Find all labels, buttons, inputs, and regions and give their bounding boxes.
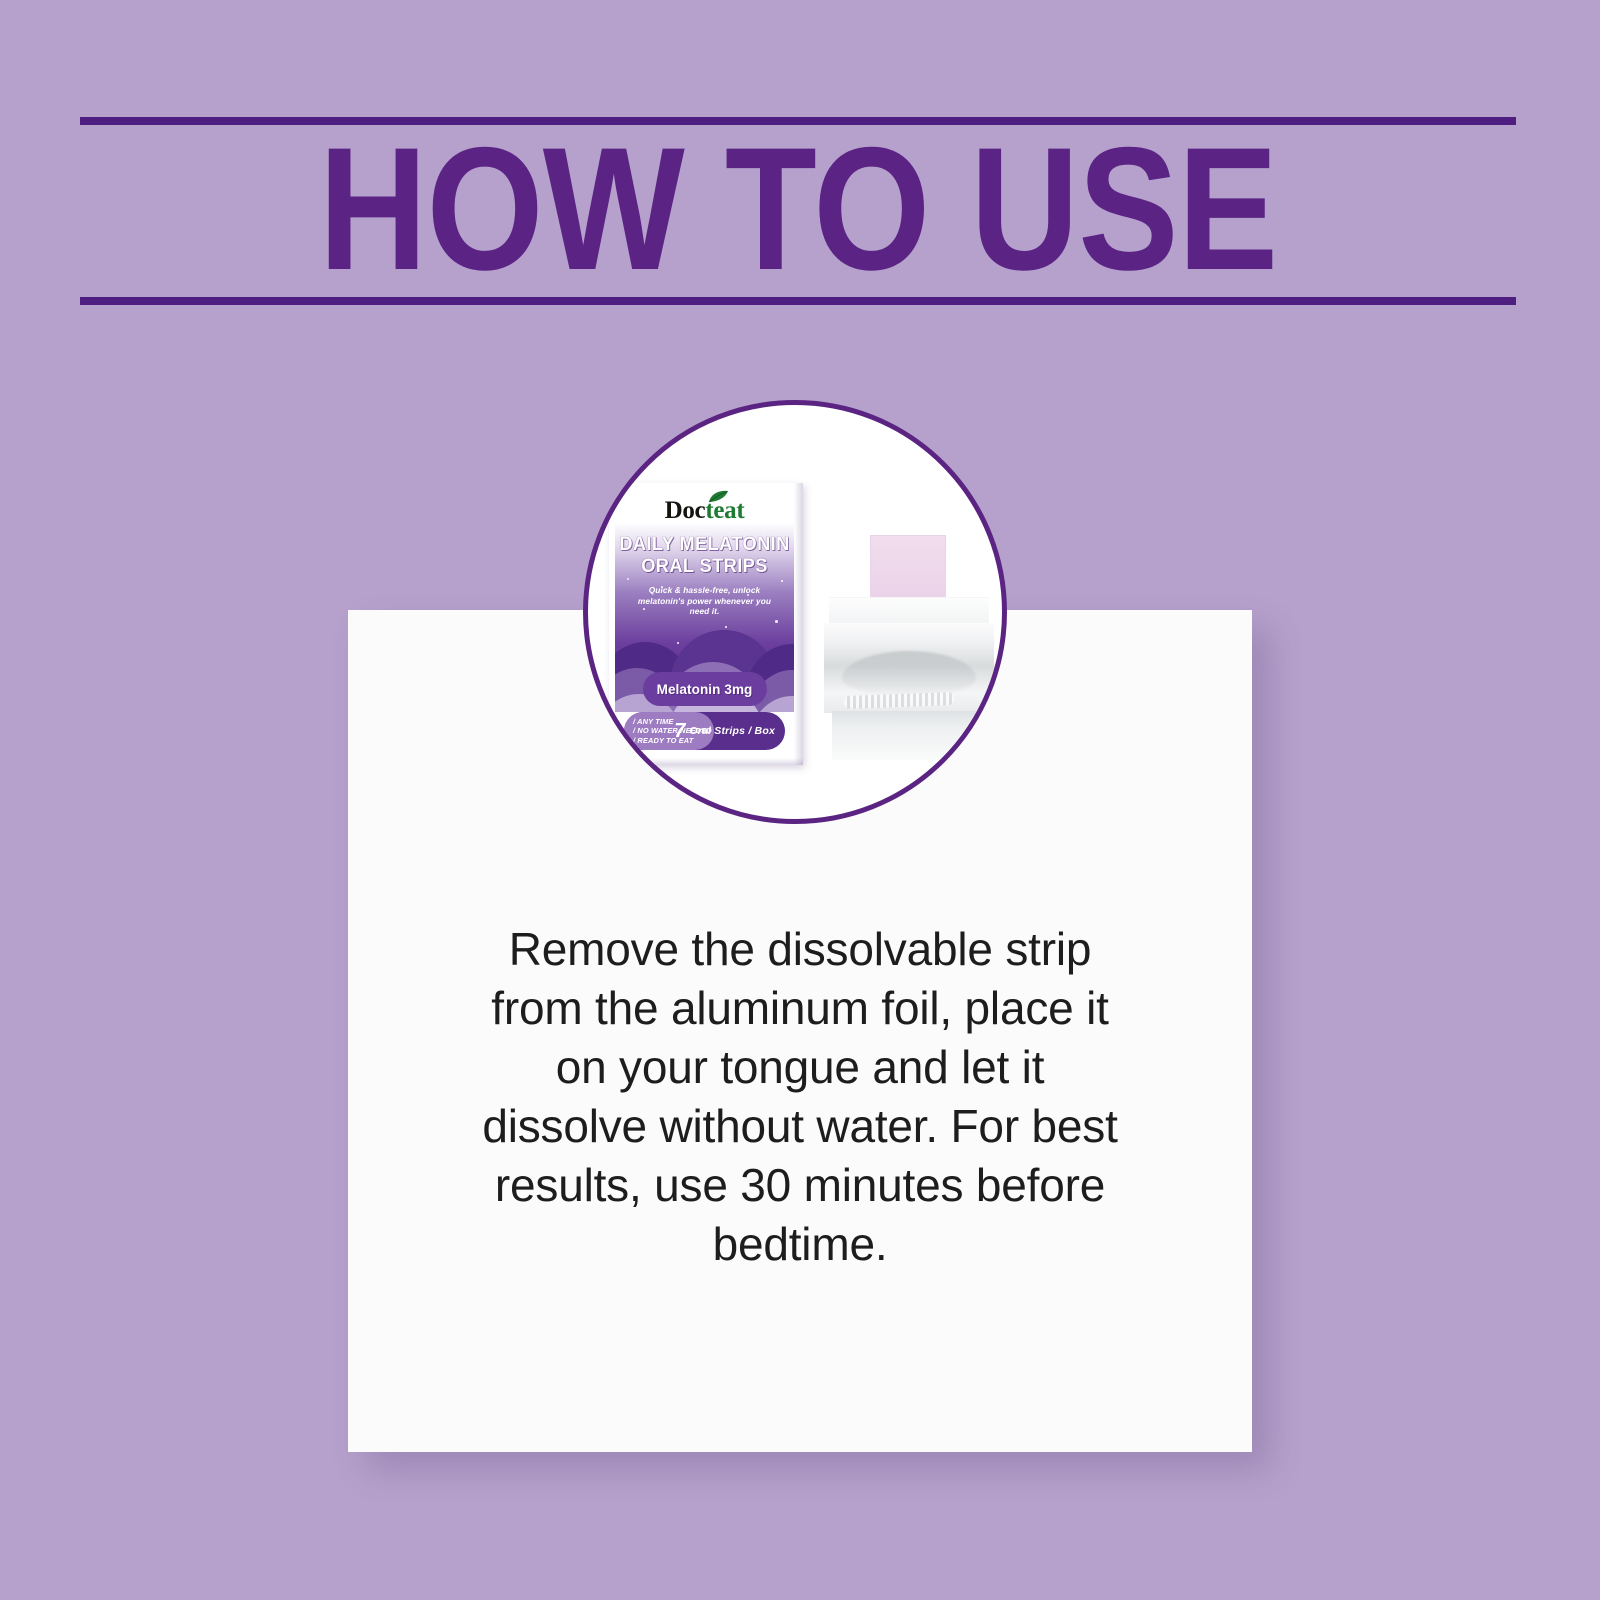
box-bottom-edge: [609, 758, 803, 765]
product-tagline: Quick & hassle-free, unlock melatonin's …: [629, 585, 780, 617]
dose-badge: Melatonin 3mg: [643, 672, 767, 706]
foil-ridges: [844, 692, 954, 709]
foil-tail: [832, 711, 986, 760]
product-photo: Docteat DAILY MELATONIN ORAL STRIPS Quic…: [588, 405, 1002, 819]
strip-count: 7 Oral Strips / Box: [674, 712, 775, 750]
dose-badge-label: Melatonin 3mg: [657, 682, 753, 697]
brand-logo: Docteat: [615, 497, 794, 525]
leaf-icon: [707, 490, 729, 504]
product-headline-line-2: ORAL STRIPS: [619, 556, 791, 578]
instruction-text: Remove the dissolvable strip from the al…: [470, 920, 1130, 1274]
foil-packet: [824, 535, 994, 760]
header-block: HOW TO USE: [80, 117, 1516, 305]
brand-logo-prefix: Doc: [665, 497, 706, 524]
product-photo-circle: Docteat DAILY MELATONIN ORAL STRIPS Quic…: [583, 400, 1007, 824]
box-right-edge: [794, 483, 803, 765]
product-bottom-bar: / ANY TIME / NO WATER NEEDED / READY TO …: [624, 712, 785, 750]
foil-crease: [842, 651, 976, 695]
strip-count-number: 7: [674, 720, 685, 743]
product-headline: DAILY MELATONIN ORAL STRIPS: [619, 534, 791, 578]
product-box-front-face: Docteat DAILY MELATONIN ORAL STRIPS Quic…: [615, 488, 794, 758]
page-title: HOW TO USE: [181, 125, 1416, 297]
product-headline-line-1: DAILY MELATONIN: [619, 534, 791, 556]
foil-front-flap: [824, 623, 994, 713]
strip-count-label: Oral Strips / Box: [689, 725, 775, 737]
product-box: Docteat DAILY MELATONIN ORAL STRIPS Quic…: [609, 483, 803, 765]
